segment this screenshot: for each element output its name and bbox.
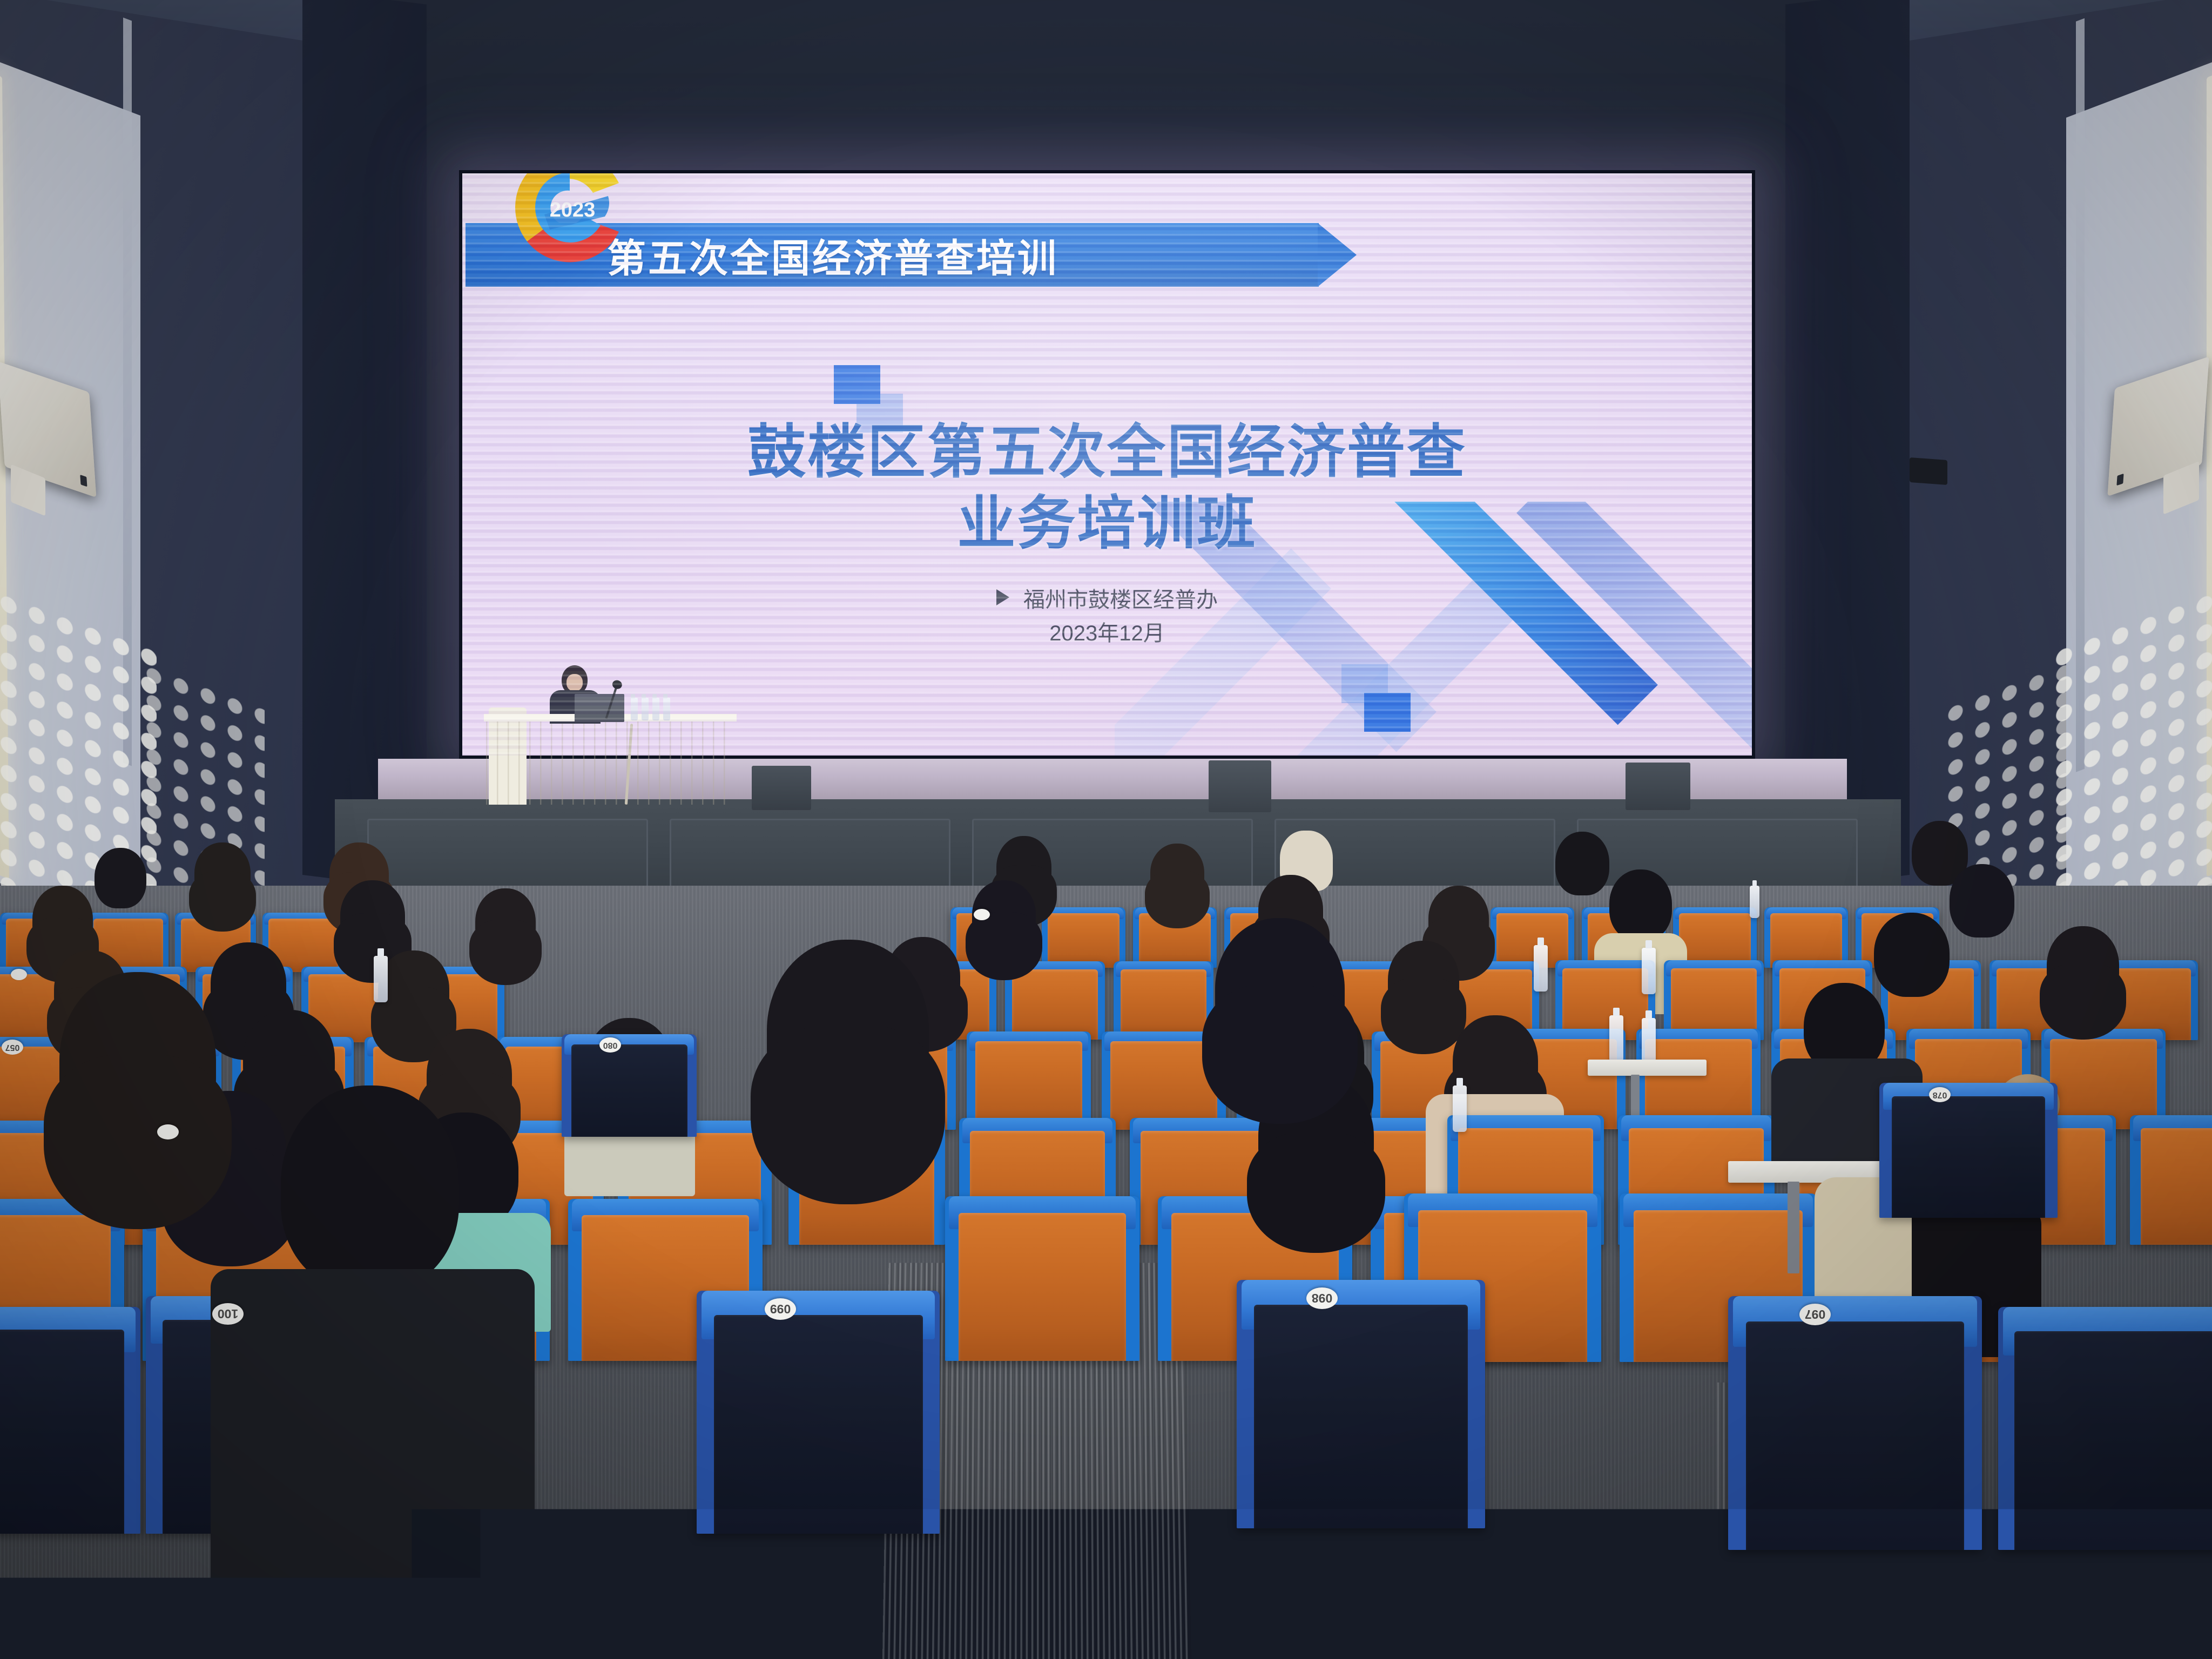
presentation-slide: 第五次全国经济普查培训 2023 鼓楼区第五次全国经济普查 xyxy=(462,173,1752,756)
ceiling-camera xyxy=(1910,457,1947,485)
slide-subtitle: 福州市鼓楼区经普办 2023年12月 xyxy=(462,584,1752,650)
seat[interactable] xyxy=(945,1196,1139,1361)
auditorium-scene: 第五次全国经济普查培训 2023 鼓楼区第五次全国经济普查 xyxy=(0,0,2212,1659)
seat[interactable]: 099 xyxy=(697,1291,940,1534)
slide-subtitle-org: 福州市鼓楼区经普办 xyxy=(1023,588,1218,612)
stage-speaker-right xyxy=(1626,763,1690,810)
seat[interactable]: 098 xyxy=(1237,1280,1485,1528)
seat[interactable] xyxy=(2130,1115,2212,1245)
seat[interactable] xyxy=(1764,907,1848,968)
slide-title-line1: 鼓楼区第五次全国经济普查 xyxy=(462,416,1752,488)
seat[interactable] xyxy=(2041,1029,2166,1129)
seat[interactable]: 080 xyxy=(562,1034,697,1137)
seat[interactable] xyxy=(1114,961,1213,1040)
seat[interactable] xyxy=(1664,960,1764,1040)
led-screen-frame: 第五次全国经济普查培训 2023 鼓楼区第五次全国经济普查 xyxy=(459,170,1755,759)
presenter-laptop xyxy=(575,694,624,722)
seat[interactable]: 078 xyxy=(1879,1083,2058,1218)
water-bottle xyxy=(1534,945,1548,992)
water-bottle xyxy=(1609,1015,1623,1062)
seat-row-f-right xyxy=(1491,907,1939,968)
water-bottle xyxy=(1642,1018,1656,1064)
stage-floor-monitor xyxy=(1209,760,1271,812)
seat-number: 098 xyxy=(1306,1287,1338,1309)
seat[interactable]: 097 xyxy=(1728,1296,1982,1550)
slide-accent-square-right xyxy=(1364,693,1411,732)
seat-number: 099 xyxy=(765,1298,796,1320)
presenter-table-skirt xyxy=(486,718,734,805)
water-bottle xyxy=(374,956,388,1002)
seat[interactable] xyxy=(0,1307,140,1534)
seat[interactable] xyxy=(1042,907,1125,968)
seat[interactable] xyxy=(967,1031,1091,1130)
seat-number: 078 xyxy=(1929,1087,1951,1102)
seat-number: 097 xyxy=(1799,1304,1831,1325)
slide-title: 鼓楼区第五次全国经济普查 业务培训班 xyxy=(462,416,1752,559)
desk-leg xyxy=(1788,1182,1799,1273)
water-bottle xyxy=(1642,948,1656,994)
seat[interactable] xyxy=(1555,960,1655,1040)
left-dark-column xyxy=(302,0,427,890)
seat[interactable] xyxy=(1998,1307,2212,1550)
presenter-water-bottles xyxy=(631,698,670,720)
seat[interactable] xyxy=(1491,907,1574,968)
water-bottle xyxy=(1453,1085,1467,1132)
logo-year-text: 2023 xyxy=(550,199,596,221)
slide-accent-square-left xyxy=(834,365,880,404)
seat-number: 080 xyxy=(599,1037,621,1053)
banner-arrow-point xyxy=(1318,223,1357,287)
stage-speaker-left xyxy=(752,766,811,810)
triangle-bullet-icon xyxy=(996,589,1009,605)
water-bottle xyxy=(1750,886,1759,918)
folding-desk[interactable] xyxy=(1588,1060,1707,1076)
right-dark-column xyxy=(1785,0,1910,890)
slide-title-line2: 业务培训班 xyxy=(462,488,1752,559)
census-logo: 2023 xyxy=(502,173,637,275)
banner-title: 第五次全国经济普查培训 xyxy=(607,227,1058,284)
slide-subtitle-date: 2023年12月 xyxy=(462,617,1752,650)
